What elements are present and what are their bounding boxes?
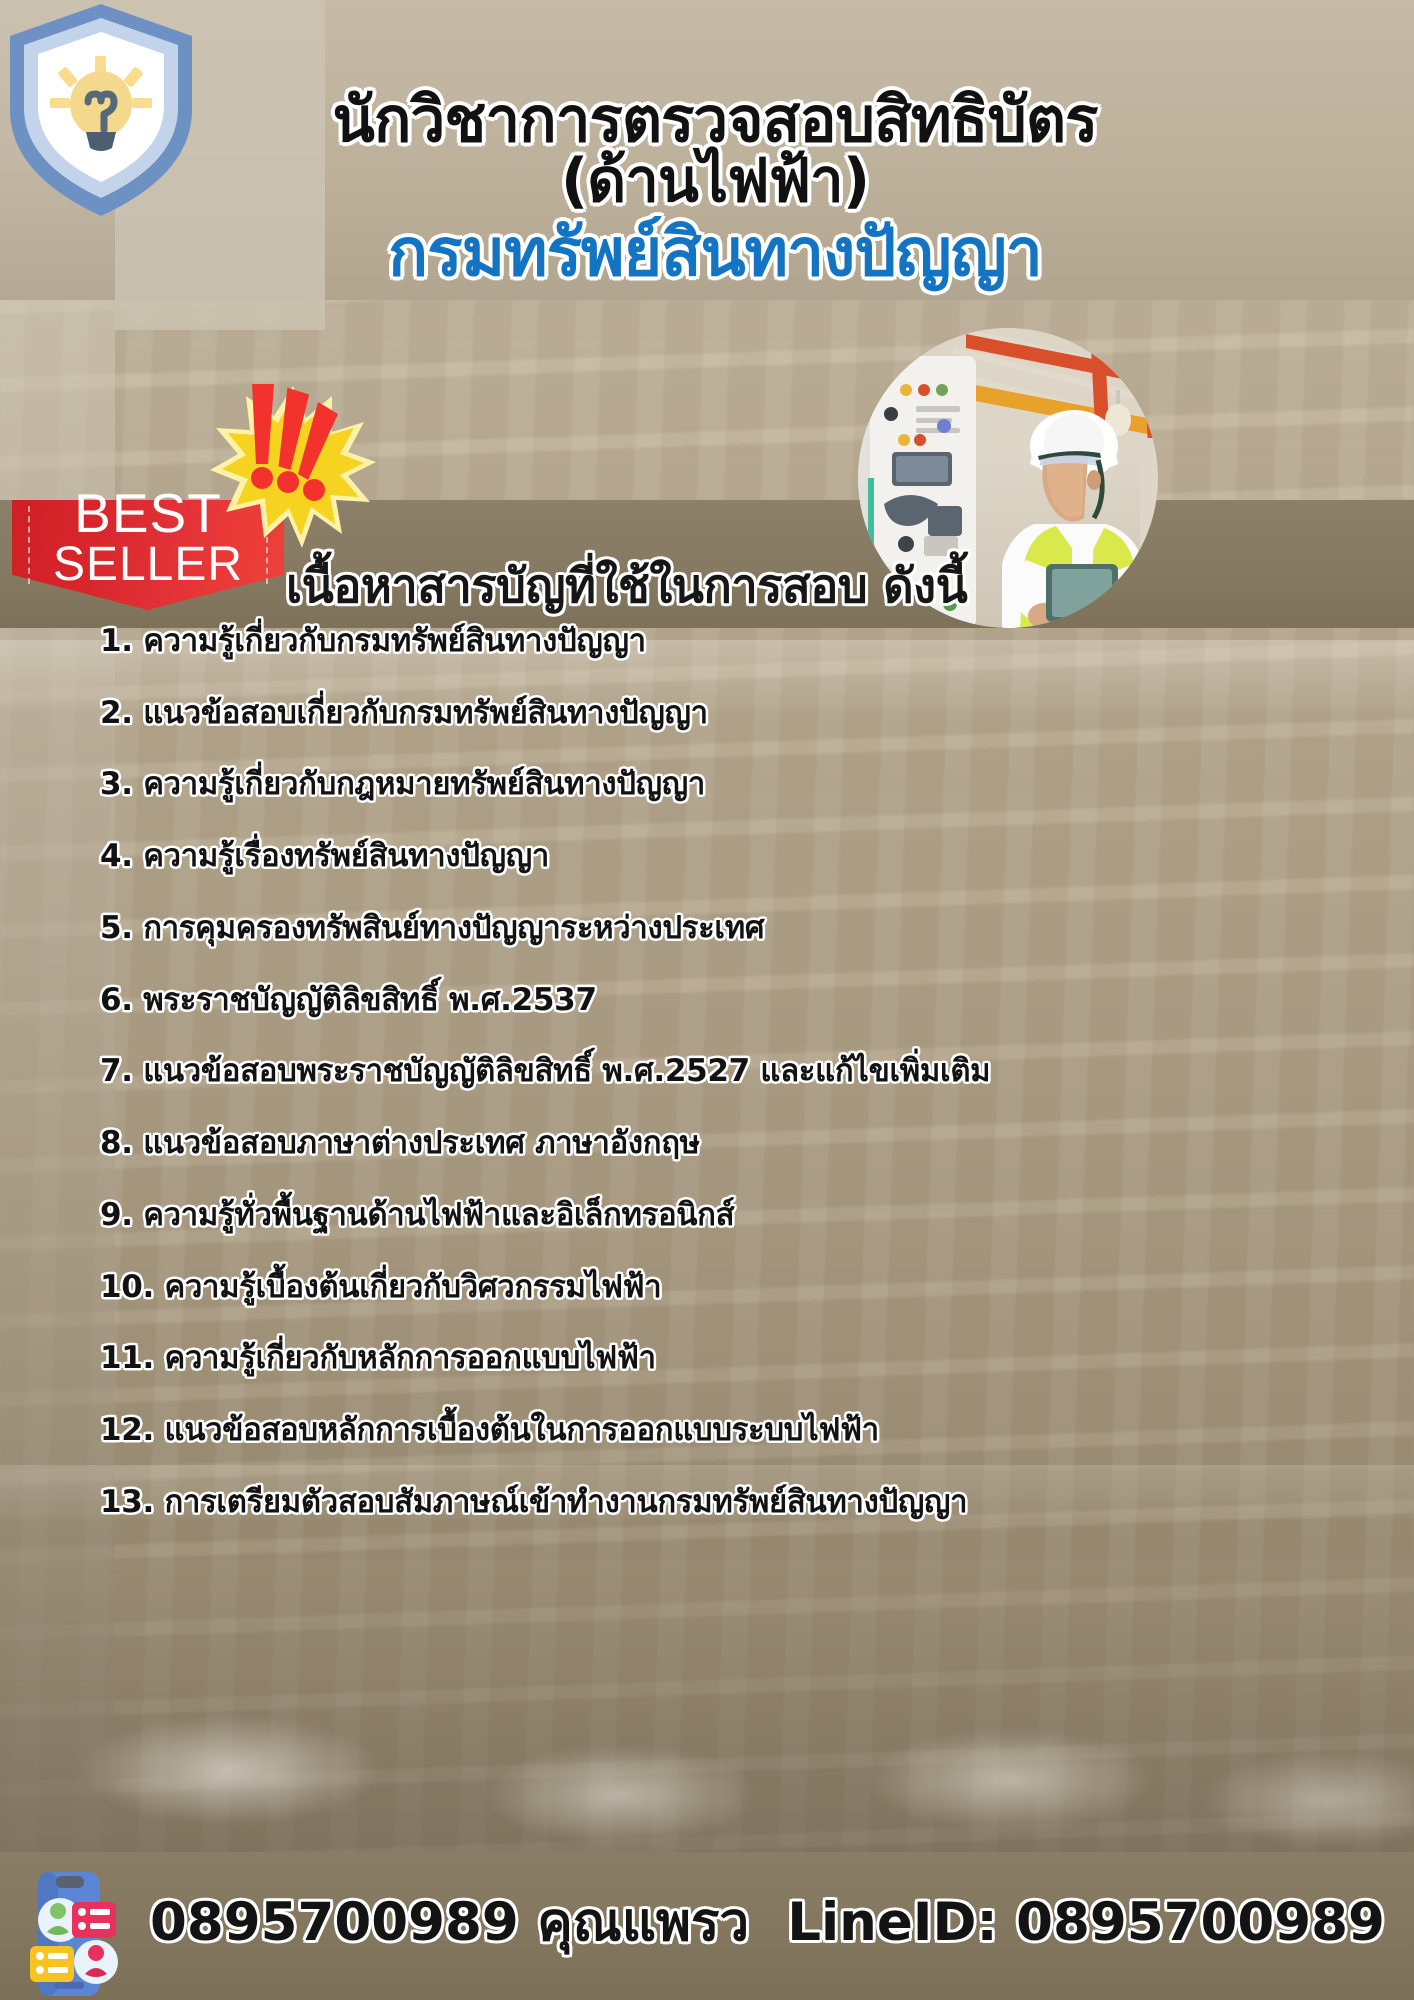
contact-chat-icon	[20, 1870, 136, 1998]
list-item: 1. ความรู้เกี่ยวกับกรมทรัพย์สินทางปัญญา	[100, 625, 1350, 657]
footer-phone: 0895700989 คุณแพรว	[150, 1880, 749, 1964]
footer-contact-text: 0895700989 คุณแพรว LineID: 0895700989	[150, 1880, 1385, 1964]
badge-text: BEST SELLER	[12, 486, 284, 589]
list-item: 11. ความรู้เกี่ยวกับหลักการออกแบบไฟฟ้า	[100, 1342, 1350, 1374]
list-item: 7. แนวข้อสอบพระราชบัญญัติลิขสิทธิ์ พ.ศ.2…	[100, 1055, 1350, 1087]
list-item: 13. การเตรียมตัวสอบสัมภาษณ์เข้าทำงานกรมท…	[100, 1486, 1350, 1518]
list-item: 12. แนวข้อสอบหลักการเบื้องต้นในการออกแบบ…	[100, 1414, 1350, 1446]
list-item: 10. ความรู้เบื้องต้นเกี่ยวกับวิศวกรรมไฟฟ…	[100, 1271, 1350, 1303]
badge-line-best: BEST	[12, 486, 284, 541]
title-line-2: (ด้านไฟฟ้า)	[150, 151, 1280, 212]
list-item: 5. การคุมครองทรัพสินย์ทางปัญญาระหว่างประ…	[100, 912, 1350, 944]
topic-list: 1. ความรู้เกี่ยวกับกรมทรัพย์สินทางปัญญา …	[100, 625, 1350, 1558]
list-item: 6. พระราชบัญญัติลิขสิทธิ์ พ.ศ.2537	[100, 984, 1350, 1016]
page-title: นักวิชาการตรวจสอบสิทธิบัตร (ด้านไฟฟ้า) ก…	[150, 88, 1280, 290]
footer-line-id: LineID: 0895700989	[787, 1892, 1385, 1953]
poster-root: นักวิชาการตรวจสอบสิทธิบัตร (ด้านไฟฟ้า) ก…	[0, 0, 1414, 2000]
list-item: 4. ความรู้เรื่องทรัพย์สินทางปัญญา	[100, 840, 1350, 872]
background-cars	[0, 1560, 1414, 1890]
list-item: 2. แนวข้อสอบเกี่ยวกับกรมทรัพย์สินทางปัญญ…	[100, 697, 1350, 729]
badge-line-seller: SELLER	[12, 541, 284, 589]
list-item: 9. ความรู้ทั่วพื้นฐานด้านไฟฟ้าและอิเล็กท…	[100, 1199, 1350, 1231]
best-seller-badge: BEST SELLER	[12, 500, 284, 610]
footer-contact-bar: 0895700989 คุณแพรว LineID: 0895700989	[0, 1852, 1414, 2000]
shield-lightbulb-icon	[6, 2, 196, 220]
title-line-1: นักวิชาการตรวจสอบสิทธิบัตร	[150, 88, 1280, 151]
contents-banner-label: เนื้อหาสารบัญที่ใช้ในการสอบ ดังนี้	[286, 548, 1046, 622]
organization-title: กรมทรัพย์สินทางปัญญา	[150, 216, 1280, 290]
list-item: 8. แนวข้อสอบภาษาต่างประเทศ ภาษาอังกฤษ	[100, 1127, 1350, 1159]
list-item: 3. ความรู้เกี่ยวกับกฎหมายทรัพย์สินทางปัญ…	[100, 768, 1350, 800]
